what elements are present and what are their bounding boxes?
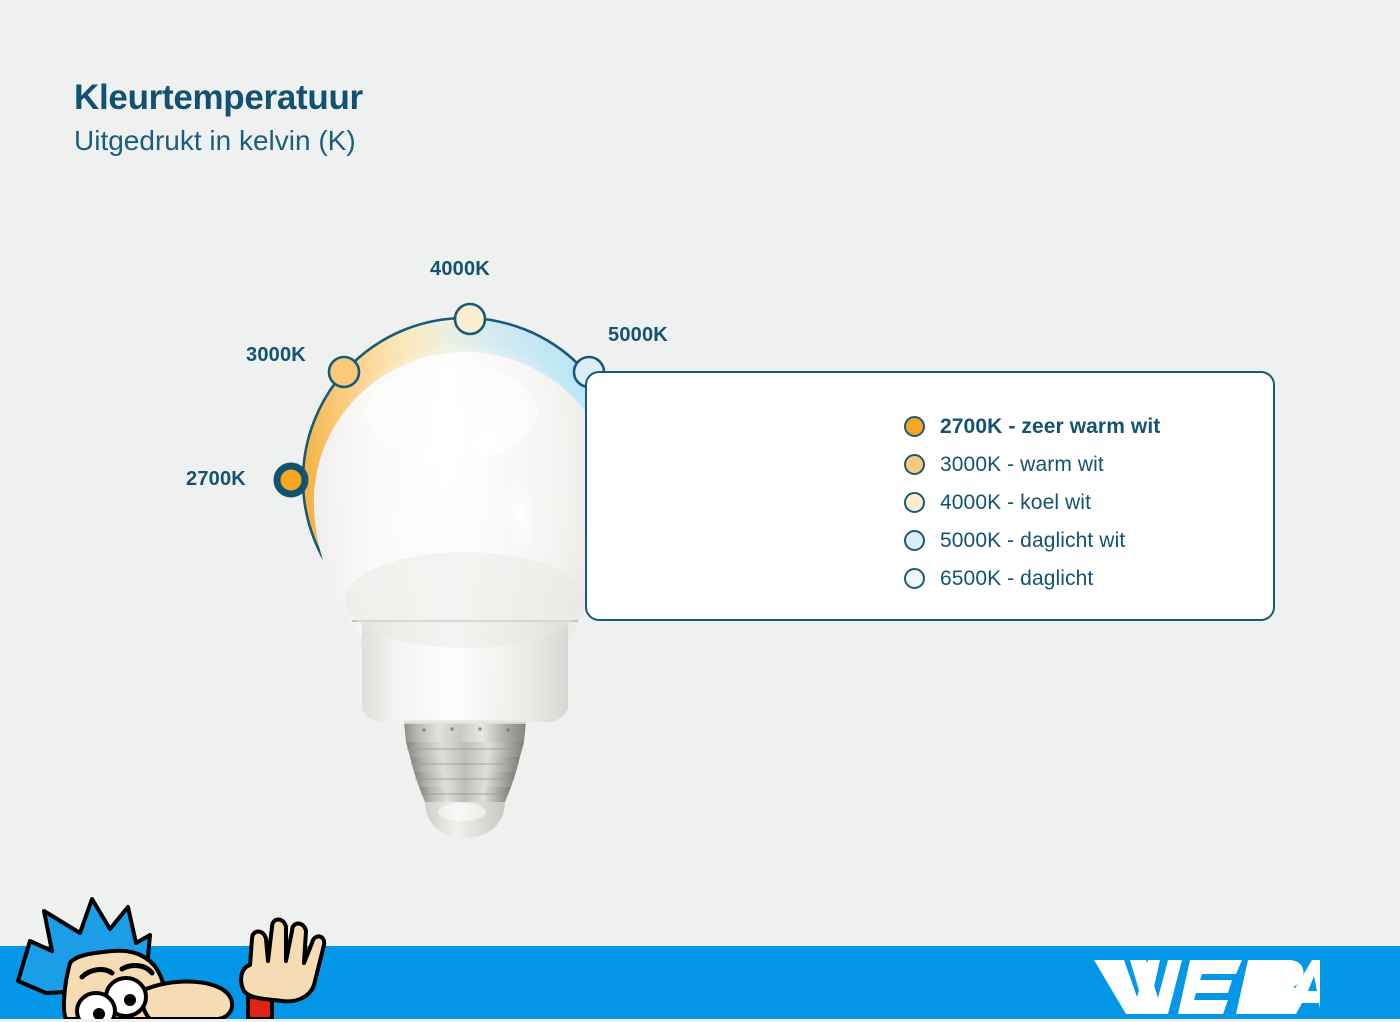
legend-item-5000k[interactable]: 5000K - daglicht wit [904, 524, 1160, 557]
tick-label-3000k: 3000K [246, 344, 306, 367]
legend-swatch-3000k [904, 454, 925, 475]
mascot-character [0, 893, 360, 1019]
legend-label-4000k: 4000K - koel wit [940, 491, 1091, 515]
legend-swatch-4000k [904, 492, 925, 513]
tick-label-2700k: 2700K [186, 468, 246, 491]
legend-item-4000k[interactable]: 4000K - koel wit [904, 486, 1160, 519]
marker-3000k[interactable] [329, 357, 359, 387]
legend-card: 2700K - zeer warm wit 3000K - warm wit 4… [585, 371, 1275, 621]
legend-label-6500k: 6500K - daglicht [940, 567, 1093, 591]
weba-logo [1090, 952, 1320, 1022]
legend-item-3000k[interactable]: 3000K - warm wit [904, 448, 1160, 481]
marker-4000k[interactable] [455, 304, 485, 334]
legend-list: 2700K - zeer warm wit 3000K - warm wit 4… [904, 410, 1160, 595]
legend-label-3000k: 3000K - warm wit [940, 453, 1104, 477]
legend-item-2700k[interactable]: 2700K - zeer warm wit [904, 410, 1160, 443]
e27-screw-threads [406, 742, 524, 802]
color-temperature-diagram: 2700K 3000K 4000K 5000K 6500K 2700K - ze… [0, 0, 1400, 946]
legend-swatch-5000k [904, 530, 925, 551]
legend-label-2700k: 2700K - zeer warm wit [940, 415, 1160, 439]
legend-swatch-6500k [904, 568, 925, 589]
legend-label-5000k: 5000K - daglicht wit [940, 529, 1125, 553]
legend-item-6500k[interactable]: 6500K - daglicht [904, 562, 1160, 595]
led-bulb-illustration [314, 352, 616, 838]
legend-swatch-2700k [904, 416, 925, 437]
marker-2700k-selected[interactable] [277, 466, 305, 494]
tick-label-4000k: 4000K [430, 258, 490, 281]
tick-label-5000k: 5000K [608, 324, 668, 347]
